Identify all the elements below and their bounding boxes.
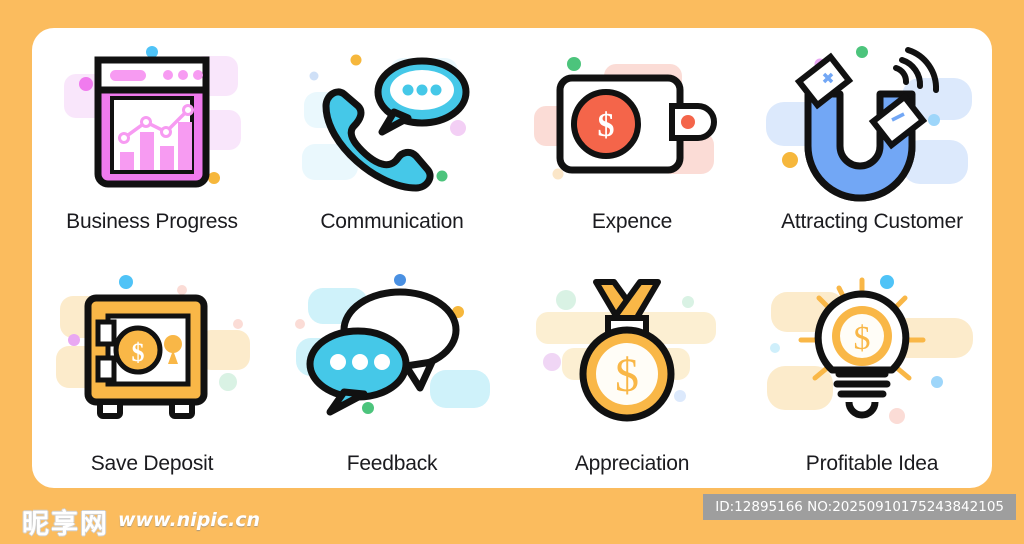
magnet-icon [752, 44, 992, 204]
wallet-icon: $ [512, 44, 752, 204]
chart-window-icon [32, 44, 272, 204]
icon-tile-communication[interactable]: Communication [272, 28, 512, 258]
svg-text:$: $ [854, 320, 871, 357]
icon-label: Feedback [347, 452, 438, 476]
icon-label: Expence [592, 210, 672, 234]
icon-tile-expence[interactable]: $ Expence [512, 28, 752, 258]
icon-tile-save-deposit[interactable]: $ Save Deposit [32, 258, 272, 488]
icon-label: Business Progress [66, 210, 238, 234]
icon-label: Attracting Customer [781, 210, 963, 234]
phone-chat-icon [272, 44, 512, 204]
watermark-bar: 昵享网 www.nipic.cn ID:12895166 NO:20250910… [0, 488, 1024, 544]
icon-label: Profitable Idea [806, 452, 938, 476]
image-id-badge: ID:12895166 NO:20250910175243842105 [703, 494, 1016, 520]
icon-tile-feedback[interactable]: Feedback [272, 258, 512, 488]
icon-tile-attracting-customer[interactable]: Attracting Customer [752, 28, 992, 258]
icon-label: Appreciation [575, 452, 689, 476]
svg-text:$: $ [615, 349, 639, 402]
nipic-logo: 昵享网 [22, 502, 109, 541]
svg-text:$: $ [598, 107, 615, 144]
icon-label: Save Deposit [91, 452, 214, 476]
icon-tile-appreciation[interactable]: $ Appreciation [512, 258, 752, 488]
speech-bubbles-icon [272, 274, 512, 434]
icon-tile-business-progress[interactable]: Business Progress [32, 28, 272, 258]
lightbulb-icon: $ [752, 274, 992, 434]
icon-grid: Business Progress [32, 28, 992, 488]
screenshot-canvas: Business Progress [0, 0, 1024, 544]
medal-icon: $ [512, 274, 752, 434]
icon-tile-profitable-idea[interactable]: $ Profitable Idea [752, 258, 992, 488]
nipic-url: www.nipic.cn [118, 509, 260, 531]
icon-label: Communication [320, 210, 463, 234]
safe-vault-icon: $ [32, 274, 272, 434]
svg-text:$: $ [132, 338, 145, 367]
